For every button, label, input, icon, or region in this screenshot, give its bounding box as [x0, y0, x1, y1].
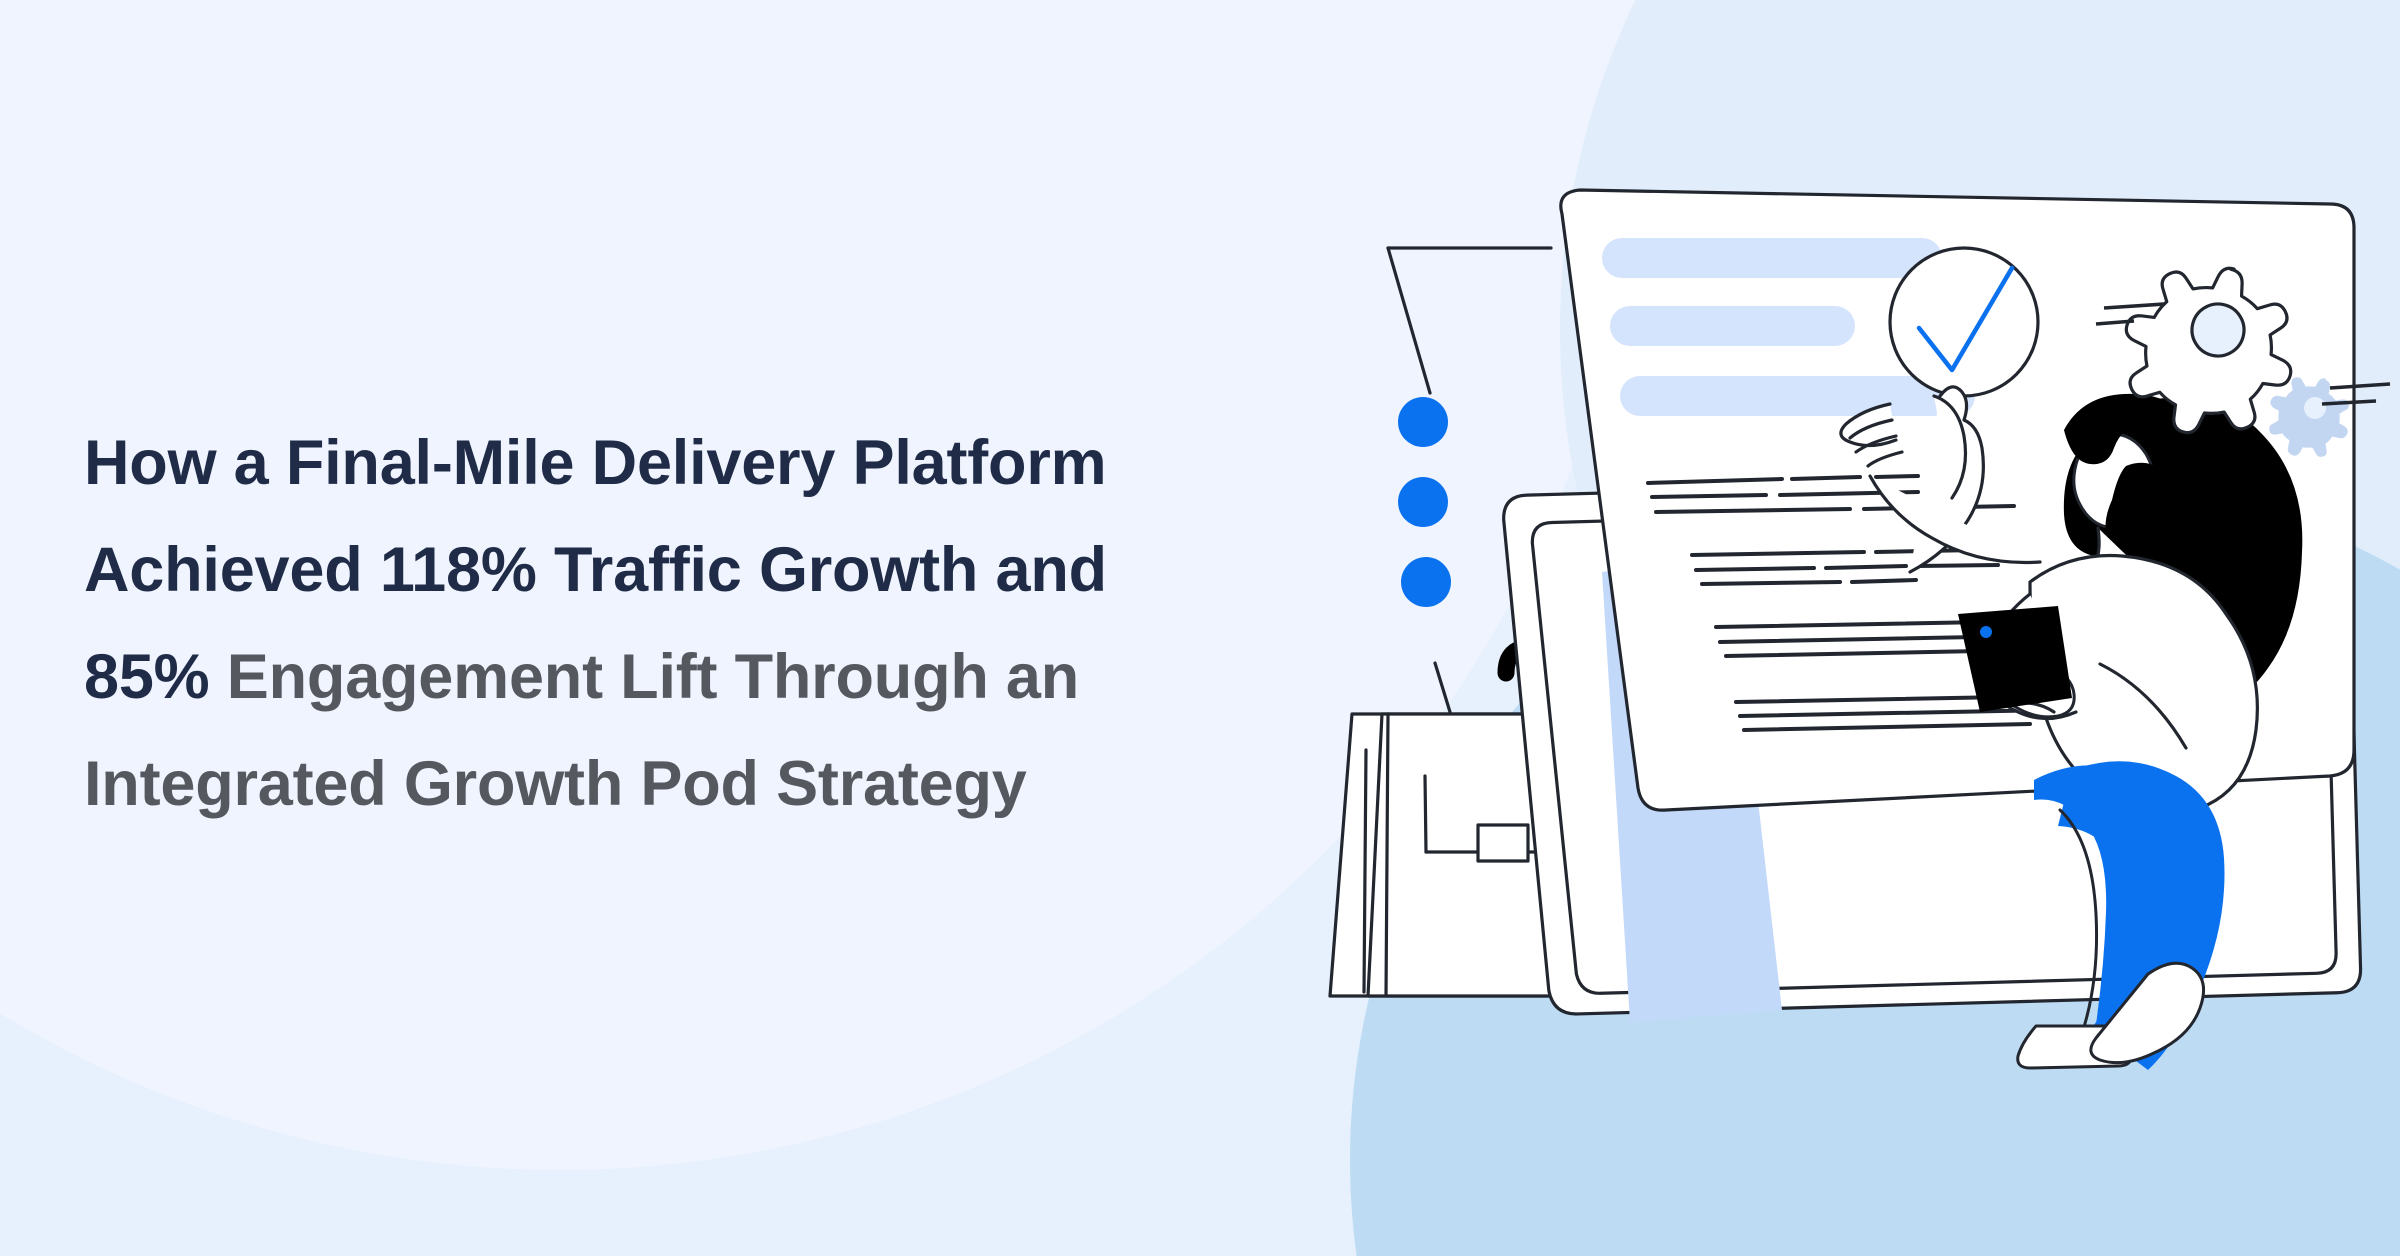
briefcase-strap-riser	[1425, 776, 1426, 852]
doc-line-6a	[1702, 582, 1840, 584]
briefcase-latch	[1478, 825, 1528, 861]
document-header-bar-1	[1602, 238, 1942, 278]
headline-segment: Engagement Lift Through an	[210, 642, 1080, 712]
connector-dot-2	[1398, 477, 1448, 527]
doc-line-5a	[1696, 568, 1814, 570]
checkmark-badge	[1890, 248, 2038, 396]
briefcase-edge-2	[1364, 750, 1366, 992]
connector-dot-3	[1401, 557, 1451, 607]
headline-line-2: Achieved 118% Traffic Growth and	[84, 517, 1344, 624]
illustration-svg	[1330, 190, 2400, 1190]
headline-line-1: How a Final-Mile Delivery Platform	[84, 410, 1344, 517]
doc-line-5b	[1826, 566, 1906, 568]
connector-line-top-diagonal	[1388, 248, 1430, 393]
doc-line-6b	[1852, 580, 1916, 582]
hero-illustration	[1330, 190, 2400, 1190]
doc-line-1c	[1876, 476, 1918, 477]
case-study-hero-banner: How a Final-Mile Delivery Platform Achie…	[0, 0, 2400, 1256]
tablet-indicator-dot	[1980, 626, 1992, 638]
connector-dot-1	[1398, 397, 1448, 447]
headline-block: How a Final-Mile Delivery Platform Achie…	[84, 410, 1344, 838]
doc-line-1b	[1792, 477, 1860, 479]
checkmark-circle	[1890, 248, 2038, 396]
headline-line-3: 85% Engagement Lift Through an	[84, 624, 1344, 731]
doc-line-2a	[1652, 495, 1766, 497]
document-header-bar-2	[1610, 306, 1855, 346]
headline-segment: Achieved 118% Traffic Growth and	[84, 535, 1107, 605]
headline-metric-engagement: 85%	[84, 642, 210, 712]
doc-line-5c	[1918, 565, 1998, 566]
connector-dots	[1398, 397, 1451, 607]
headline-line-4: Integrated Growth Pod Strategy	[84, 731, 1344, 838]
briefcase-edge-1	[1386, 714, 1388, 996]
headline-segment: Integrated Growth Pod Strategy	[84, 749, 1027, 819]
headline-segment: How a Final-Mile Delivery Platform	[84, 428, 1106, 498]
